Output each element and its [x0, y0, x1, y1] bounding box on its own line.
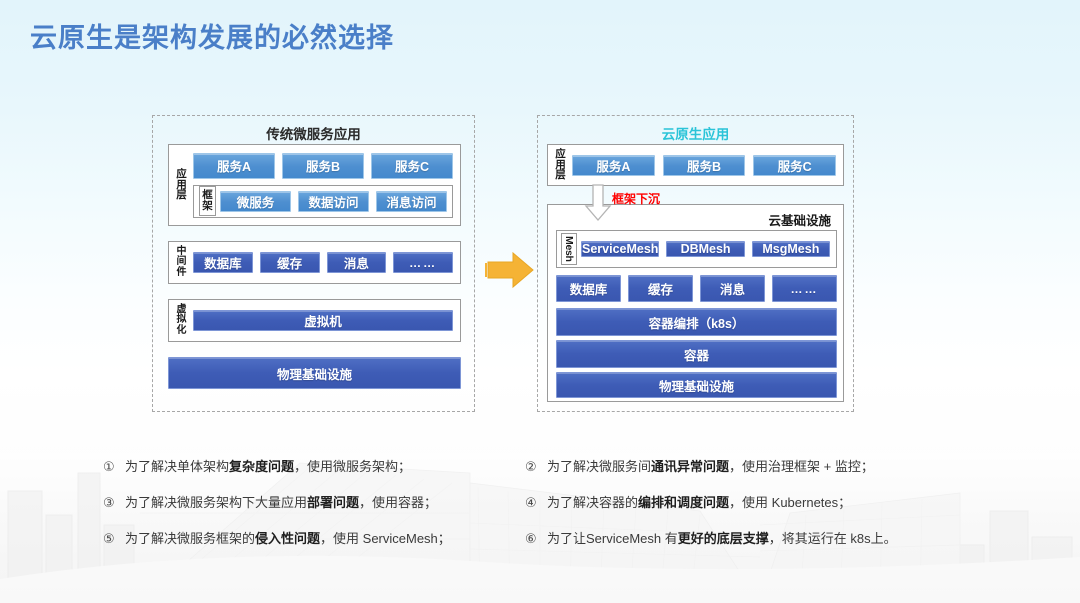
- bullet-list-left: ① 为了解决单体架构复杂度问题，使用微服务架构； ③ 为了解决微服务架构下大量应…: [103, 456, 523, 564]
- middleware-box-cache-right[interactable]: 缓存: [628, 275, 693, 302]
- bullet-text: 为了解决单体架构复杂度问题，使用微服务架构；: [125, 456, 411, 475]
- mesh-box-servicemesh[interactable]: ServiceMesh: [581, 241, 659, 257]
- service-box-a-left[interactable]: 服务A: [193, 153, 275, 179]
- app-layer-group-right: 应用层 服务A 服务B 服务C: [547, 144, 844, 186]
- bullet-number: ④: [525, 495, 547, 511]
- virtualization-label-left: 虚拟化: [174, 305, 189, 336]
- list-item: ④ 为了解决容器的编排和调度问题，使用 Kubernetes；: [525, 492, 965, 511]
- bullet-number: ①: [103, 459, 125, 475]
- framework-sink-label: 框架下沉: [612, 190, 660, 207]
- list-item: ③ 为了解决微服务架构下大量应用部署问题，使用容器；: [103, 492, 523, 511]
- cloud-infrastructure-label: 云基础设施: [768, 210, 831, 229]
- bullet-text: 为了解决微服务间通讯异常问题，使用治理框架 + 监控；: [547, 456, 874, 475]
- middleware-box-cache-left[interactable]: 缓存: [260, 252, 320, 273]
- app-layer-group-left: 应用层 服务A 服务B 服务C 框架 微服务 数据访问 消息访问: [168, 144, 461, 226]
- bullet-text: 为了解决微服务架构下大量应用部署问题，使用容器；: [125, 492, 437, 511]
- bullet-number: ②: [525, 459, 547, 475]
- service-box-a-right[interactable]: 服务A: [572, 155, 655, 176]
- framework-box-microservice[interactable]: 微服务: [220, 191, 291, 212]
- panel-title-left: 传统微服务应用: [153, 123, 474, 143]
- middleware-box-database-right[interactable]: 数据库: [556, 275, 621, 302]
- cloud-native-panel: 云原生应用 应用层 服务A 服务B 服务C 云基础设施 Mesh Service…: [537, 115, 854, 412]
- middleware-box-more-left[interactable]: ……: [393, 252, 453, 273]
- service-box-c-right[interactable]: 服务C: [753, 155, 836, 176]
- container-box[interactable]: 容器: [556, 340, 837, 368]
- list-item: ⑥ 为了让ServiceMesh 有更好的底层支撑，将其运行在 k8s上。: [525, 528, 965, 547]
- service-box-b-right[interactable]: 服务B: [663, 155, 746, 176]
- arrow-down-icon: [583, 184, 613, 222]
- bullet-text: 为了解决容器的编排和调度问题，使用 Kubernetes；: [547, 492, 851, 511]
- virtualization-group-left: 虚拟化 虚拟机: [168, 299, 461, 342]
- mesh-box-msgmesh[interactable]: MsgMesh: [752, 241, 830, 257]
- physical-infrastructure-box-left[interactable]: 物理基础设施: [168, 357, 461, 389]
- bullet-number: ⑤: [103, 531, 125, 547]
- physical-infrastructure-box-right[interactable]: 物理基础设施: [556, 372, 837, 398]
- mesh-box-dbmesh[interactable]: DBMesh: [666, 241, 744, 257]
- framework-box-data-access[interactable]: 数据访问: [298, 191, 369, 212]
- middleware-box-message-left[interactable]: 消息: [327, 252, 387, 273]
- middleware-box-database-left[interactable]: 数据库: [193, 252, 253, 273]
- bullet-number: ⑥: [525, 531, 547, 547]
- traditional-microservice-panel: 传统微服务应用 应用层 服务A 服务B 服务C 框架 微服务 数据访问 消息访问: [152, 115, 475, 412]
- panel-title-right: 云原生应用: [538, 123, 853, 143]
- list-item: ⑤ 为了解决微服务框架的侵入性问题，使用 ServiceMesh；: [103, 528, 523, 547]
- app-layer-label-right: 应用层: [553, 149, 568, 181]
- container-orchestration-box[interactable]: 容器编排（k8s）: [556, 308, 837, 336]
- virtual-machine-box[interactable]: 虚拟机: [193, 310, 453, 331]
- mesh-group: Mesh ServiceMesh DBMesh MsgMesh: [556, 230, 837, 268]
- slide-canvas: 云原生是架构发展的必然选择 传统微服务应用 应用层 服务A 服务B 服务C 框架…: [0, 0, 1080, 603]
- mesh-label: Mesh: [561, 233, 577, 265]
- cloud-infrastructure-group: 云基础设施 Mesh ServiceMesh DBMesh MsgMesh 数据…: [547, 204, 844, 402]
- middleware-label-left: 中间件: [174, 247, 189, 278]
- bullet-list-right: ② 为了解决微服务间通讯异常问题，使用治理框架 + 监控； ④ 为了解决容器的编…: [525, 456, 965, 564]
- middleware-box-message-right[interactable]: 消息: [700, 275, 765, 302]
- service-box-c-left[interactable]: 服务C: [371, 153, 453, 179]
- middleware-box-more-right[interactable]: ……: [772, 275, 837, 302]
- middleware-group-left: 中间件 数据库 缓存 消息 ……: [168, 241, 461, 284]
- app-layer-label-left: 应用层: [174, 169, 189, 201]
- middleware-row-right: 数据库 缓存 消息 ……: [556, 275, 837, 302]
- page-title: 云原生是架构发展的必然选择: [30, 16, 394, 55]
- arrow-right-icon: [485, 250, 537, 290]
- framework-box-message-access[interactable]: 消息访问: [376, 191, 447, 212]
- bullet-text: 为了让ServiceMesh 有更好的底层支撑，将其运行在 k8s上。: [547, 528, 897, 547]
- framework-label-left: 框架: [199, 186, 216, 216]
- list-item: ② 为了解决微服务间通讯异常问题，使用治理框架 + 监控；: [525, 456, 965, 475]
- service-box-b-left[interactable]: 服务B: [282, 153, 364, 179]
- list-item: ① 为了解决单体架构复杂度问题，使用微服务架构；: [103, 456, 523, 475]
- bullet-text: 为了解决微服务框架的侵入性问题，使用 ServiceMesh；: [125, 528, 451, 547]
- framework-group-left: 框架 微服务 数据访问 消息访问: [193, 185, 453, 218]
- bullet-number: ③: [103, 495, 125, 511]
